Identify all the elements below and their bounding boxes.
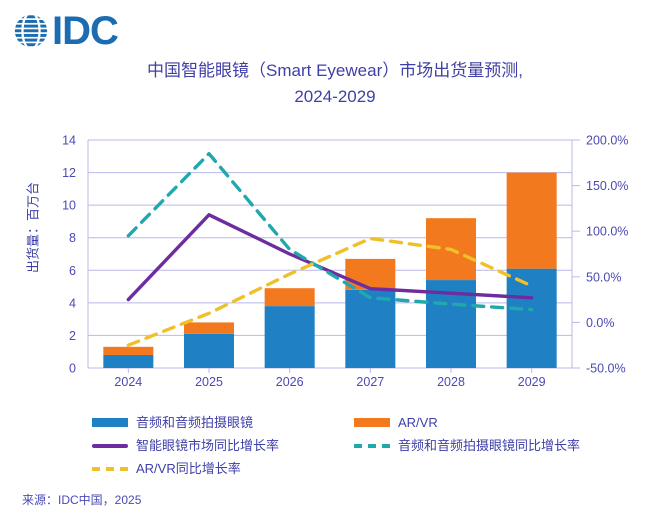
legend-swatch-market-growth (92, 444, 128, 448)
svg-text:2024: 2024 (114, 375, 142, 389)
bar-segment (184, 334, 234, 368)
legend-label-audio-glasses: 音频和音频拍摄眼镜 (136, 415, 253, 431)
svg-text:200.0%: 200.0% (586, 134, 628, 148)
legend-row-3: AR/VR同比增长率 (92, 457, 592, 480)
svg-text:0.0%: 0.0% (586, 316, 615, 330)
svg-text:14: 14 (62, 134, 76, 148)
legend-item-audio-glasses[interactable]: 音频和音频拍摄眼镜 (92, 415, 354, 431)
chart-legend: 音频和音频拍摄眼镜 AR/VR 智能眼镜市场同比增长率 音频和音频拍摄眼镜同比增… (92, 411, 592, 480)
bar-segment (265, 288, 315, 306)
gridlines (88, 140, 572, 368)
legend-label-audio-growth: 音频和音频拍摄眼镜同比增长率 (398, 438, 580, 454)
svg-text:10: 10 (62, 199, 76, 213)
svg-text:50.0%: 50.0% (586, 270, 621, 284)
x-axis-ticks: 202420252026202720282029 (114, 368, 545, 389)
legend-item-arvr-growth[interactable]: AR/VR同比增长率 (92, 461, 354, 477)
legend-item-market-growth[interactable]: 智能眼镜市场同比增长率 (92, 438, 354, 454)
bar-segment (265, 306, 315, 368)
svg-text:2028: 2028 (437, 375, 465, 389)
legend-label-arvr-growth: AR/VR同比增长率 (136, 461, 241, 477)
svg-text:2: 2 (69, 329, 76, 343)
y-axis-right-ticks: -50.0%0.0%50.0%100.0%150.0%200.0% (572, 134, 628, 376)
legend-swatch-arvr-growth (92, 467, 128, 471)
svg-text:2029: 2029 (518, 375, 546, 389)
bar-segment (184, 322, 234, 333)
legend-row-2: 智能眼镜市场同比增长率 音频和音频拍摄眼镜同比增长率 (92, 434, 592, 457)
legend-swatch-audio-glasses (92, 418, 128, 427)
y-axis-title: 出货量：百万台 (23, 168, 42, 288)
legend-label-market-growth: 智能眼镜市场同比增长率 (136, 438, 279, 454)
svg-text:2027: 2027 (356, 375, 384, 389)
svg-text:12: 12 (62, 166, 76, 180)
legend-label-arvr: AR/VR (398, 415, 438, 431)
source-note: 来源：IDC中国，2025 (22, 491, 141, 508)
bar-segment (507, 173, 557, 269)
svg-text:2026: 2026 (276, 375, 304, 389)
svg-text:2025: 2025 (195, 375, 223, 389)
bar-segment (507, 269, 557, 368)
svg-text:8: 8 (69, 231, 76, 245)
bar-segment (103, 355, 153, 368)
bar-segment (345, 290, 395, 368)
svg-text:4: 4 (69, 296, 76, 310)
legend-swatch-arvr (354, 418, 390, 427)
svg-text:150.0%: 150.0% (586, 179, 628, 193)
svg-text:0: 0 (69, 362, 76, 376)
legend-item-audio-growth[interactable]: 音频和音频拍摄眼镜同比增长率 (354, 438, 580, 454)
y-axis-left-ticks: 02468101214 (62, 134, 76, 376)
svg-text:-50.0%: -50.0% (586, 362, 626, 376)
bar-segment (103, 347, 153, 355)
svg-text:6: 6 (69, 264, 76, 278)
legend-item-arvr[interactable]: AR/VR (354, 415, 438, 431)
legend-row-1: 音频和音频拍摄眼镜 AR/VR (92, 411, 592, 434)
legend-swatch-audio-growth (354, 444, 390, 448)
svg-text:100.0%: 100.0% (586, 225, 628, 239)
bar-segment (345, 259, 395, 290)
